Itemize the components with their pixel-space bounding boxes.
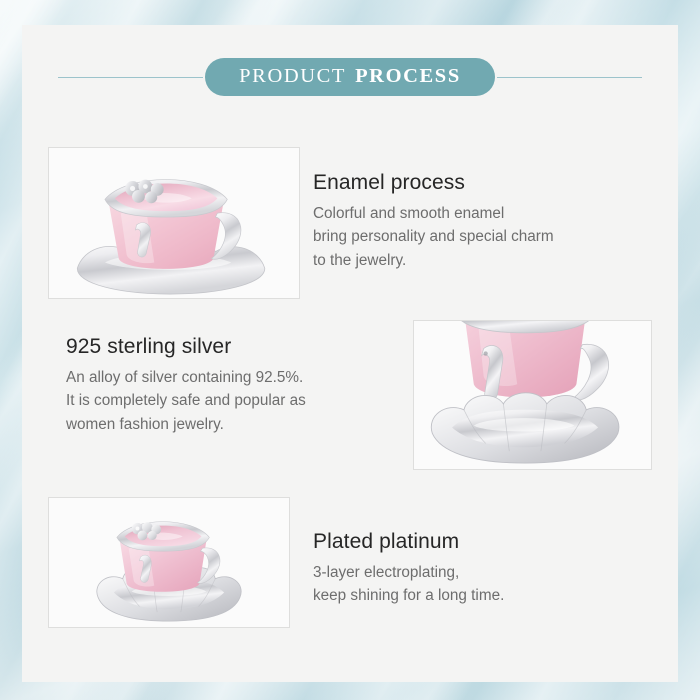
header-rule-right [497, 77, 642, 78]
section-body-line: Colorful and smooth enamel [313, 202, 653, 225]
product-photo-plated-platinum [48, 497, 290, 628]
text-block-sterling-silver: 925 sterling silver An alloy of silver c… [66, 335, 396, 436]
section-heading: Enamel process [313, 171, 653, 195]
page-title: PRODUCTPROCESS [205, 58, 495, 96]
page-title-bold: PROCESS [355, 65, 461, 87]
section-body-line: 3-layer electroplating, [313, 561, 643, 584]
page-title-light: PRODUCT [239, 65, 346, 87]
section-body-line: women fashion jewelry. [66, 413, 396, 436]
section-heading: 925 sterling silver [66, 335, 396, 359]
product-photo-enamel-process [48, 147, 300, 299]
header-rule-left [58, 77, 203, 78]
infographic-card: PRODUCTPROCESS [22, 25, 678, 682]
section-body-line: An alloy of silver containing 92.5%. [66, 366, 396, 389]
section-body-line: bring personality and special charm [313, 225, 653, 248]
text-block-plated-platinum: Plated platinum 3-layer electroplating, … [313, 530, 643, 608]
product-photo-sterling-silver [413, 320, 652, 470]
section-body-line: It is completely safe and popular as [66, 389, 396, 412]
text-block-enamel-process: Enamel process Colorful and smooth ename… [313, 171, 653, 272]
section-heading: Plated platinum [313, 530, 643, 554]
section-body-line: to the jewelry. [313, 249, 653, 272]
header-banner: PRODUCTPROCESS [22, 57, 678, 97]
section-body-line: keep shining for a long time. [313, 584, 643, 607]
